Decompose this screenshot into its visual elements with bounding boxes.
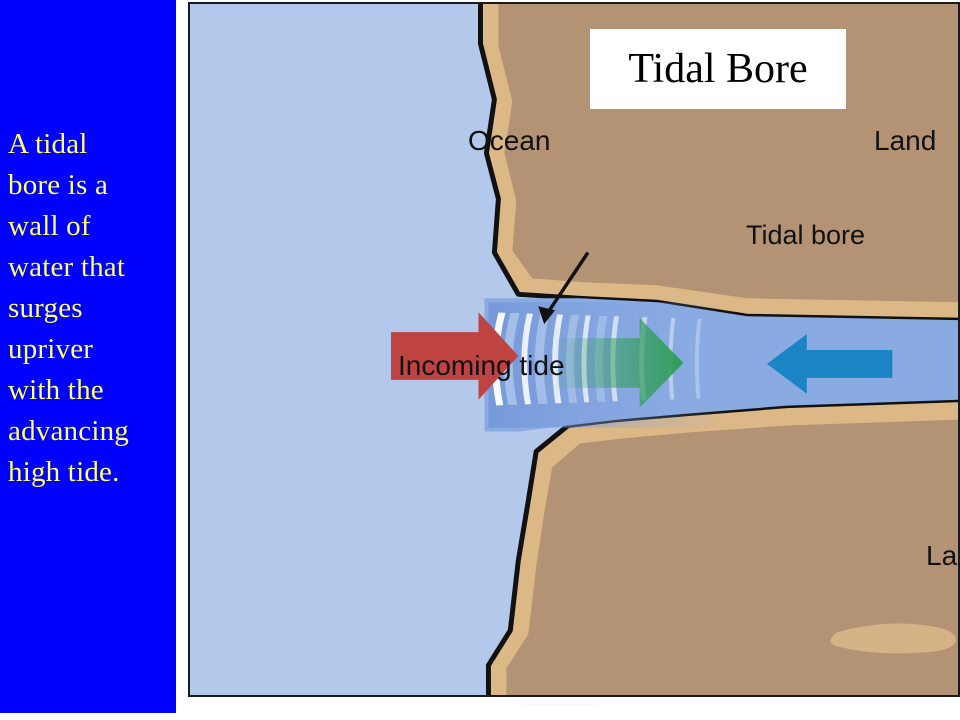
label-land-bottom: Land (926, 540, 960, 572)
caption-text: A tidal bore is a wall of water that sur… (8, 124, 174, 493)
label-tidal-bore: Tidal bore (746, 220, 865, 251)
diagram-title-box: Tidal Bore (590, 29, 846, 109)
label-incoming-tide: Incoming tide (398, 350, 565, 382)
label-ocean: Ocean (468, 125, 551, 157)
bottom-credit-text: ............................. (300, 698, 820, 718)
label-land-top: Land (874, 125, 936, 157)
page-title: Tidal Bore (628, 48, 807, 90)
tidal-bore-diagram: Tidal Bore Ocean Land Tidal bore Incomin… (188, 2, 960, 697)
caption-panel: A tidal bore is a wall of water that sur… (0, 0, 176, 713)
land-lower (488, 400, 958, 695)
